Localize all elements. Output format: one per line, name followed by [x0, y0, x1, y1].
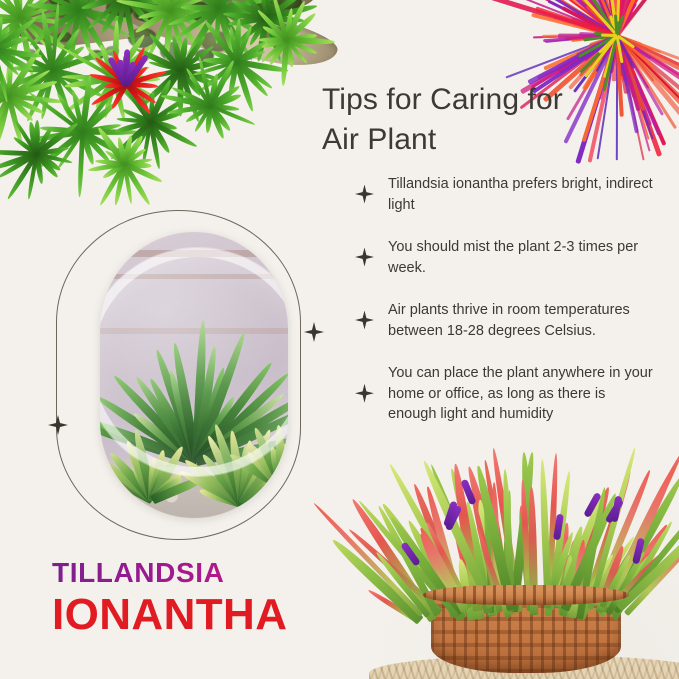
tips-list: Tillandsia ionantha prefers bright, indi…	[352, 174, 657, 447]
sparkle-star-icon	[352, 245, 378, 271]
sparkle-star-icon	[352, 308, 378, 334]
sparkle-star-icon	[352, 182, 378, 208]
oval-right-sparkle-icon	[304, 322, 324, 342]
page-title-line-1: Tips for Caring for	[322, 80, 642, 120]
wordmark-genus: TILLANDSIA	[52, 556, 287, 590]
sparkle-star-icon	[352, 381, 378, 407]
list-item: Air plants thrive in room temperatures b…	[352, 300, 657, 341]
glass-globe-terrarium	[100, 248, 288, 476]
list-item: Tillandsia ionantha prefers bright, indi…	[352, 174, 657, 215]
oval-photo-frame	[56, 210, 301, 540]
list-item-label: You can place the plant anywhere in your…	[388, 363, 657, 425]
wicker-basket-rim	[423, 585, 629, 605]
poster-canvas: Tips for Caring for Air Plant Tillandsia…	[0, 0, 679, 679]
page-title: Tips for Caring for Air Plant	[322, 80, 642, 160]
top-left-tillandsia-cluster-decoration	[0, 0, 344, 216]
wordmark-species: IONANTHA	[52, 590, 287, 640]
bottom-right-basket-plant-decoration	[379, 445, 679, 679]
wordmark: TILLANDSIA IONANTHA	[52, 556, 287, 640]
list-item: You can place the plant anywhere in your…	[352, 363, 657, 425]
air-plant-photo	[100, 232, 288, 518]
list-item: You should mist the plant 2-3 times per …	[352, 237, 657, 278]
list-item-label: Air plants thrive in room temperatures b…	[388, 300, 657, 341]
list-item-label: Tillandsia ionantha prefers bright, indi…	[388, 174, 657, 215]
page-title-line-2: Air Plant	[322, 120, 642, 160]
list-item-label: You should mist the plant 2-3 times per …	[388, 237, 657, 278]
